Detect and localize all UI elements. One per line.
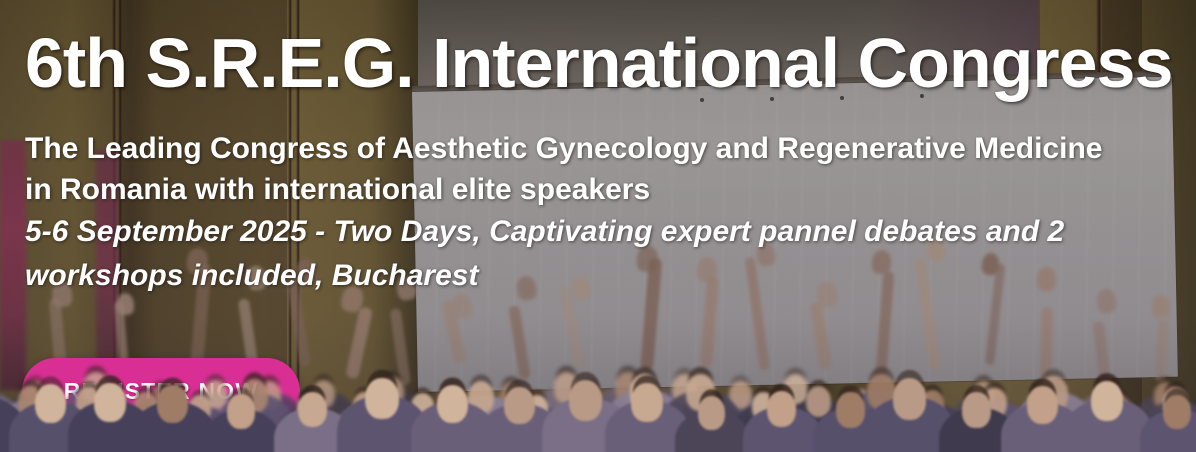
audience-member-head [836,392,864,427]
audience-member-head [767,391,796,427]
page-title: 6th S.R.E.G. International Congress [25,28,1172,98]
audience-member-head [35,384,66,423]
audience-member-head [1027,386,1058,424]
subtitle-line-1: The Leading Congress of Aesthetic Gyneco… [25,128,1185,169]
audience-member-head [1163,395,1191,429]
detail-line-2: workshops included, Bucharest [25,254,1185,298]
audience-member-head [94,383,126,422]
audience-member-head [893,378,926,419]
banner-content: 6th S.R.E.G. International Congress The … [0,0,1196,452]
audience-member-head [157,385,188,423]
hero-banner: 6th S.R.E.G. International Congress The … [0,0,1196,452]
audience-member-head [569,380,602,421]
audience-member-head [365,378,399,420]
audience-member-head [1091,381,1123,421]
subtitle-line-2: in Romania with international elite spea… [25,169,1185,210]
audience-member-head [504,387,534,425]
audience-member-head [437,385,468,424]
audience-member-head [298,392,327,428]
detail-line-1: 5-6 September 2025 - Two Days, Captivati… [25,210,1185,254]
audience-member-head [698,396,725,430]
subtitle-block: The Leading Congress of Aesthetic Gyneco… [25,128,1185,298]
audience-member-head [962,392,990,427]
audience-member-head [227,394,255,428]
audience-member-head [631,383,663,422]
